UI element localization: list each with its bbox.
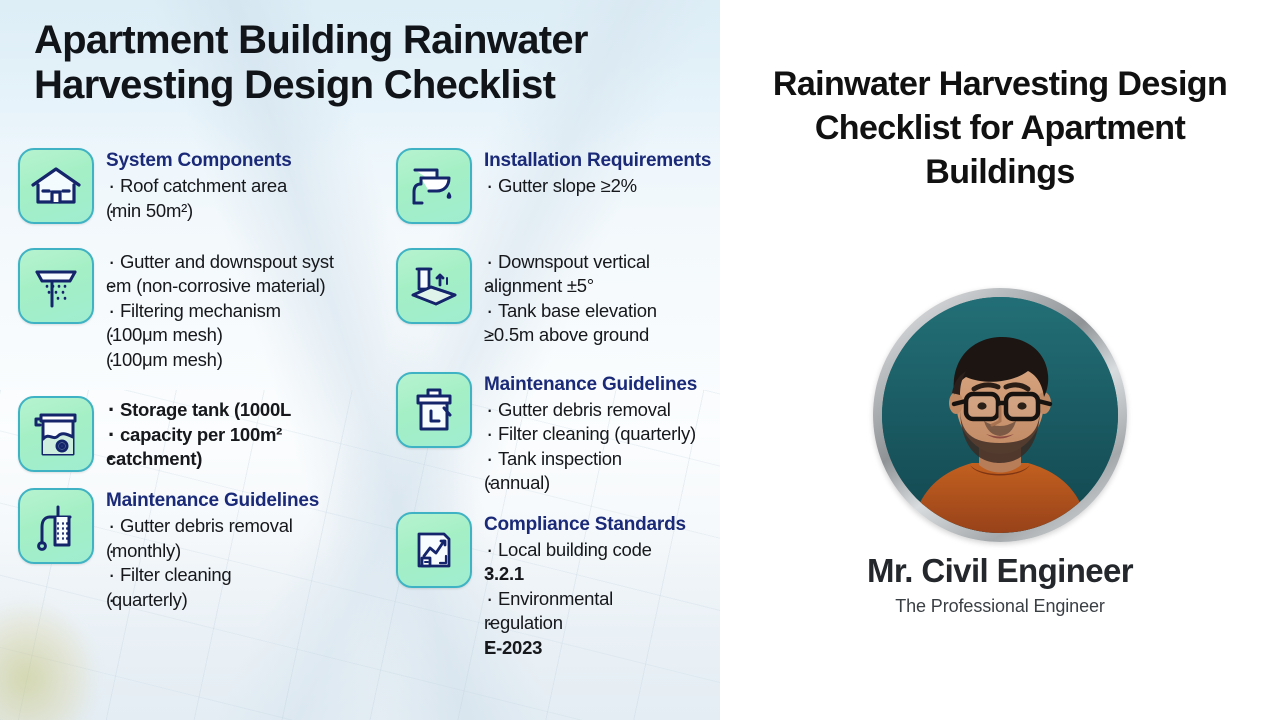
list-item: Tank base elevation xyxy=(484,299,720,322)
list-item-text: (quarterly) xyxy=(106,589,188,610)
list-item-text: (100μm mesh) xyxy=(106,349,223,370)
checklist-block: Downspout vertical alignment ±5° Tank ba… xyxy=(396,248,720,348)
list-item-cont: (100μm mesh) xyxy=(106,348,396,371)
storage-tank-icon xyxy=(18,396,94,472)
list-item-cont: regulation xyxy=(484,611,720,634)
spacer xyxy=(18,230,396,248)
list-item-text: (min 50m²) xyxy=(106,200,193,221)
house-roof-icon xyxy=(18,148,94,224)
list-item-cont: 3.2.1 xyxy=(484,562,720,585)
spacer xyxy=(396,354,720,372)
list-item-text: 3.2.1 xyxy=(484,563,524,584)
tap-water-icon xyxy=(396,148,472,224)
list-item-cont: em (non-corrosive material) xyxy=(106,274,396,297)
block-text: Installation Requirements Gutter slope ≥… xyxy=(484,148,720,199)
block-text: Maintenance Guidelines Gutter debris rem… xyxy=(484,372,720,496)
list-item: Gutter and downspout syst xyxy=(106,250,396,273)
checklist-block: Compliance Standards Local building code… xyxy=(396,512,720,660)
section-items: Roof catchment area (min 50m²) xyxy=(106,174,396,222)
block-icon-slot xyxy=(18,488,106,564)
list-item-text: ≥0.5m above ground xyxy=(484,324,649,345)
faucet-filter-icon xyxy=(18,488,94,564)
list-item-cont: (min 50m²) xyxy=(106,199,396,222)
spacer xyxy=(396,502,720,512)
list-item-cont: catchment) xyxy=(106,447,396,470)
section-heading: Installation Requirements xyxy=(484,150,720,172)
spacer xyxy=(18,378,396,396)
list-item-cont: ≥0.5m above ground xyxy=(484,323,720,346)
block-text: Compliance Standards Local building code… xyxy=(484,512,720,660)
checklist-block: Storage tank (1000L capacity per 100m² c… xyxy=(18,396,396,472)
presenter-panel: Rainwater Harvesting Design Checklist fo… xyxy=(720,0,1280,720)
list-item: Roof catchment area xyxy=(106,174,396,197)
list-item: Environmental xyxy=(484,587,720,610)
list-item-cont: (100μm mesh) xyxy=(106,323,396,346)
list-item: Storage tank (1000L xyxy=(106,398,396,421)
spacer xyxy=(18,478,396,488)
block-icon-slot xyxy=(396,148,484,224)
list-item: Downspout vertical xyxy=(484,250,720,273)
list-item-text: E-2023 xyxy=(484,637,542,658)
list-item: Filter cleaning (quarterly) xyxy=(484,422,720,445)
section-heading: Compliance Standards xyxy=(484,514,720,536)
list-item: capacity per 100m² xyxy=(106,423,396,446)
avatar-portrait xyxy=(882,297,1118,533)
list-item: Filtering mechanism xyxy=(106,299,396,322)
section-items: Storage tank (1000L capacity per 100m² c… xyxy=(106,398,396,470)
checklist-block: Maintenance Guidelines Gutter debris rem… xyxy=(396,372,720,496)
section-items: Local building code 3.2.1 Environmental … xyxy=(484,538,720,659)
shower-filter-icon xyxy=(18,248,94,324)
section-items: Gutter debris removal (monthly) Filter c… xyxy=(106,514,396,611)
list-item-text: catchment) xyxy=(106,448,202,469)
block-icon-slot xyxy=(18,396,106,472)
list-item-text: regulation xyxy=(484,612,563,633)
tank-elevation-icon xyxy=(396,248,472,324)
block-icon-slot xyxy=(396,248,484,324)
block-icon-slot xyxy=(18,148,106,224)
presenter-subtitle: The Professional Engineer xyxy=(750,596,1250,617)
checklist-column-left: System Components Roof catchment area (m… xyxy=(0,148,396,666)
section-heading: Maintenance Guidelines xyxy=(106,490,396,512)
list-item-cont: (monthly) xyxy=(106,539,396,562)
list-item-text: em (non-corrosive material) xyxy=(106,275,325,296)
checklist-block: Gutter and downspout syst em (non-corros… xyxy=(18,248,396,372)
avatar xyxy=(873,288,1127,542)
list-item: Filter cleaning xyxy=(106,563,396,586)
block-icon-slot xyxy=(18,248,106,324)
portrait-illustration xyxy=(882,297,1118,533)
block-icon-slot xyxy=(396,512,484,588)
presenter-name: Mr. Civil Engineer xyxy=(750,552,1250,590)
list-item: Local building code xyxy=(484,538,720,561)
infographic-title: Apartment Building Rainwater Harvesting … xyxy=(34,18,704,108)
list-item-cont: alignment ±5° xyxy=(484,274,720,297)
list-item-text: (annual) xyxy=(484,472,550,493)
list-item: Gutter slope ≥2% xyxy=(484,174,720,197)
list-item-text: (100μm mesh) xyxy=(106,324,223,345)
compliance-document-icon xyxy=(396,512,472,588)
list-item-cont: E-2023 xyxy=(484,636,720,659)
section-items: Gutter debris removal Filter cleaning (q… xyxy=(484,398,720,495)
block-text: Maintenance Guidelines Gutter debris rem… xyxy=(106,488,396,612)
slide-root: Apartment Building Rainwater Harvesting … xyxy=(0,0,1280,720)
block-text: System Components Roof catchment area (m… xyxy=(106,148,396,223)
block-text: Storage tank (1000L capacity per 100m² c… xyxy=(106,396,396,471)
infographic-panel: Apartment Building Rainwater Harvesting … xyxy=(0,0,720,720)
block-icon-slot xyxy=(396,372,484,448)
section-heading: System Components xyxy=(106,150,396,172)
block-text: Downspout vertical alignment ±5° Tank ba… xyxy=(484,248,720,348)
spacer xyxy=(396,230,720,248)
section-items: Downspout vertical alignment ±5° Tank ba… xyxy=(484,250,720,347)
checklist-column-right: Installation Requirements Gutter slope ≥… xyxy=(396,148,720,666)
checklist-block: Installation Requirements Gutter slope ≥… xyxy=(396,148,720,224)
list-item: Gutter debris removal xyxy=(106,514,396,537)
trash-bin-icon xyxy=(396,372,472,448)
list-item-text: (monthly) xyxy=(106,540,181,561)
checklist-columns: System Components Roof catchment area (m… xyxy=(0,148,720,666)
list-item-cont: (annual) xyxy=(484,471,720,494)
block-text: Gutter and downspout syst em (non-corros… xyxy=(106,248,396,372)
section-items: Gutter and downspout syst em (non-corros… xyxy=(106,250,396,371)
section-heading: Maintenance Guidelines xyxy=(484,374,720,396)
section-items: Gutter slope ≥2% xyxy=(484,174,720,197)
checklist-block: Maintenance Guidelines Gutter debris rem… xyxy=(18,488,396,612)
slide-headline: Rainwater Harvesting Design Checklist fo… xyxy=(750,62,1250,195)
list-item-cont: (quarterly) xyxy=(106,588,396,611)
checklist-block: System Components Roof catchment area (m… xyxy=(18,148,396,224)
list-item: Gutter debris removal xyxy=(484,398,720,421)
list-item-text: alignment ±5° xyxy=(484,275,594,296)
list-item: Tank inspection xyxy=(484,447,720,470)
